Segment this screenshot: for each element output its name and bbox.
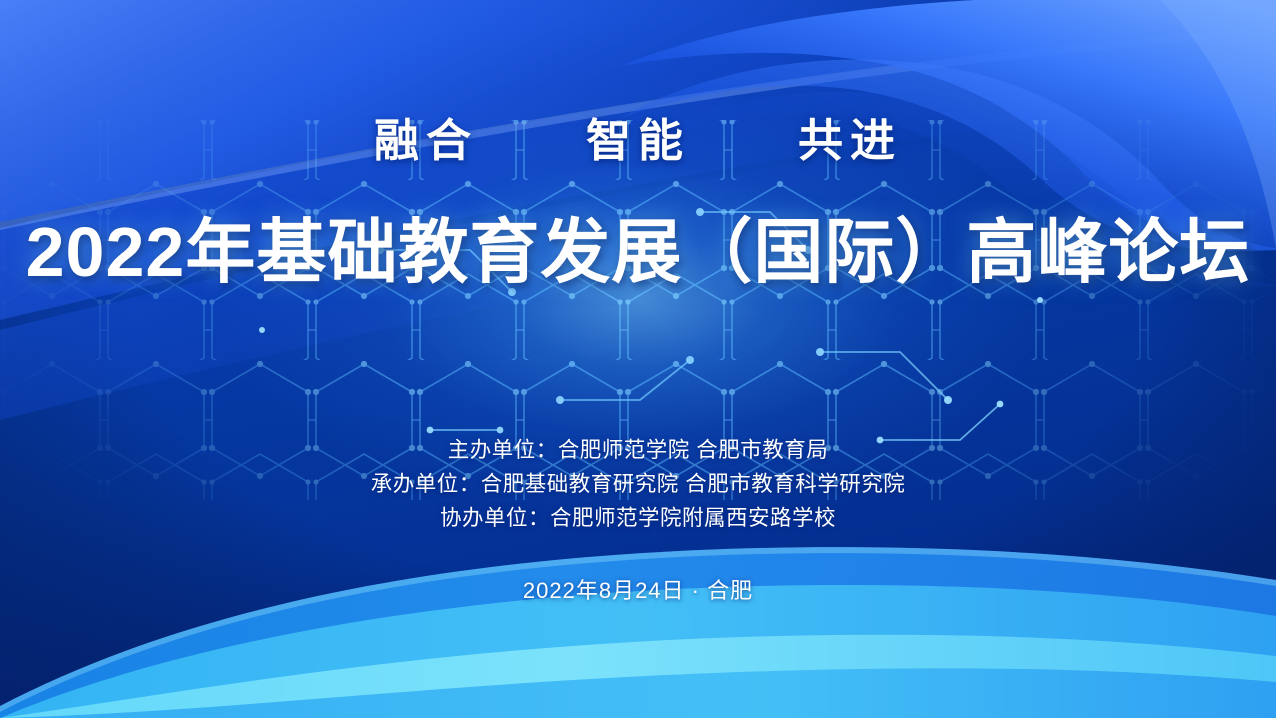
date-location: 2022年8月24日 · 合肥 bbox=[523, 573, 753, 605]
main-title: 2022年基础教育发展（国际）高峰论坛 bbox=[26, 215, 1251, 291]
organizer-line-coorganizer: 协办单位：合肥师范学院附属西安路学校 bbox=[371, 501, 905, 535]
conference-poster: 融合 智能 共进 2022年基础教育发展（国际）高峰论坛 主办单位：合肥师范学院… bbox=[0, 0, 1276, 718]
bottom-wave-group bbox=[0, 0, 1276, 718]
organizer-line-host: 主办单位：合肥师范学院 合肥市教育局 bbox=[371, 433, 905, 467]
tagline-phrase-3: 共进 bbox=[798, 118, 902, 163]
organizer-line-organizer: 承办单位：合肥基础教育研究院 合肥市教育科学研究院 bbox=[371, 467, 905, 501]
tagline-phrase-2: 智能 bbox=[586, 118, 690, 163]
organizer-block: 主办单位：合肥师范学院 合肥市教育局 承办单位：合肥基础教育研究院 合肥市教育科… bbox=[371, 433, 905, 535]
tagline: 融合 智能 共进 bbox=[374, 118, 902, 163]
tagline-phrase-1: 融合 bbox=[374, 118, 478, 163]
